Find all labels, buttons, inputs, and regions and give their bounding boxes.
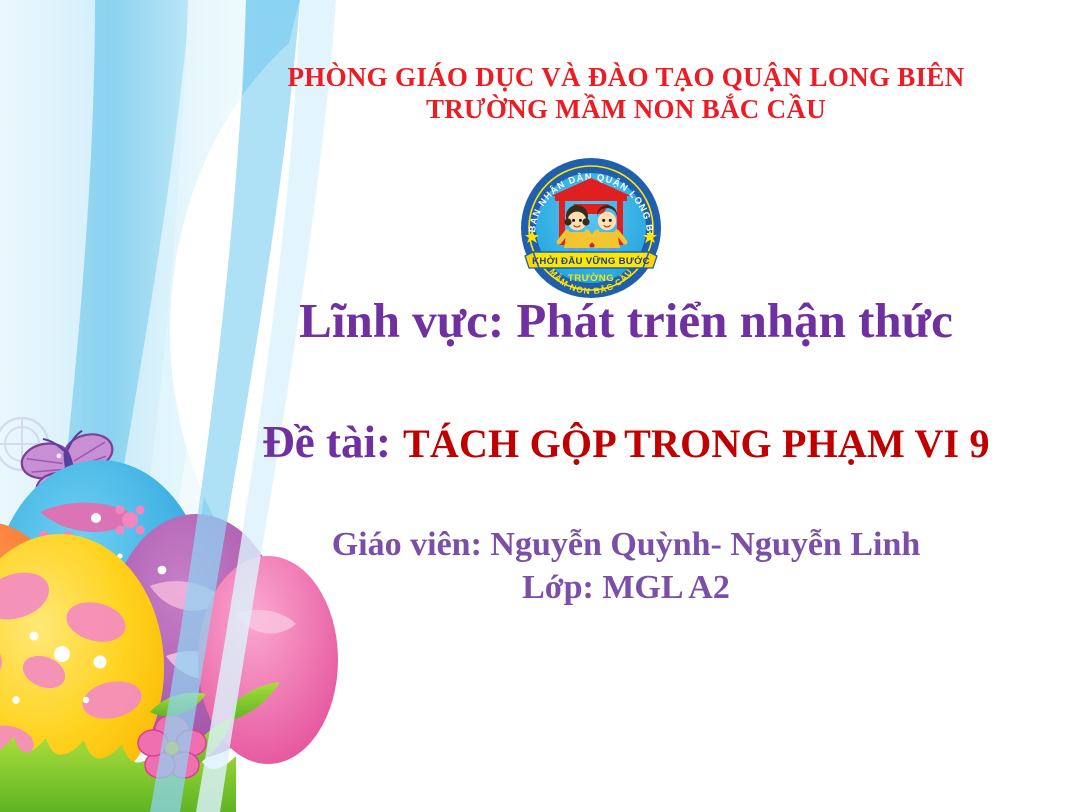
field-title: Lĩnh vực: Phát triển nhận thức <box>170 294 1082 348</box>
watermark-circle-motif <box>0 418 48 470</box>
header-line-school: TRƯỜNG MẦM NON BẮC CẦU <box>170 94 1082 126</box>
flower-icon <box>138 715 206 778</box>
orange-egg <box>0 522 72 758</box>
yellow-egg <box>0 534 164 802</box>
slide-canvas: PHÒNG GIÁO DỤC VÀ ĐÀO TẠO QUẬN LONG BIÊN… <box>0 0 1082 812</box>
topic-label: Đề tài: <box>262 417 391 467</box>
logo-banner-text: KHỞI ĐẦU VỮNG BƯỚC <box>532 255 650 267</box>
butterfly-icon <box>18 425 121 507</box>
school-emblem-icon: ỦY BAN NHÂN DÂN QUẬN LONG BIÊN MẦM NON B… <box>515 152 667 300</box>
header-block: PHÒNG GIÁO DỤC VÀ ĐÀO TẠO QUẬN LONG BIÊN… <box>170 62 1082 126</box>
field-title-text: Lĩnh vực: Phát triển nhận thức <box>299 293 953 348</box>
grass-icon <box>0 682 280 812</box>
logo-banner: KHỞI ĐẦU VỮNG BƯỚC <box>525 252 657 268</box>
teacher-block: Giáo viên: Nguyễn Quỳnh- Nguyễn Linh Lớp… <box>170 524 1082 609</box>
class-name: Lớp: MGL A2 <box>170 567 1082 610</box>
header-line-department: PHÒNG GIÁO DỤC VÀ ĐÀO TẠO QUẬN LONG BIÊN <box>170 62 1082 94</box>
flower-leaf <box>150 693 206 717</box>
teacher-names: Giáo viên: Nguyễn Quỳnh- Nguyễn Linh <box>170 524 1082 567</box>
school-logo: ỦY BAN NHÂN DÂN QUẬN LONG BIÊN MẦM NON B… <box>515 152 667 300</box>
topic-value: TÁCH GỘP TRONG PHẠM VI 9 <box>403 421 990 466</box>
logo-truong-text: TRƯỜNG <box>568 272 614 284</box>
topic-title: Đề tài:TÁCH GỘP TRONG PHẠM VI 9 <box>170 418 1082 468</box>
